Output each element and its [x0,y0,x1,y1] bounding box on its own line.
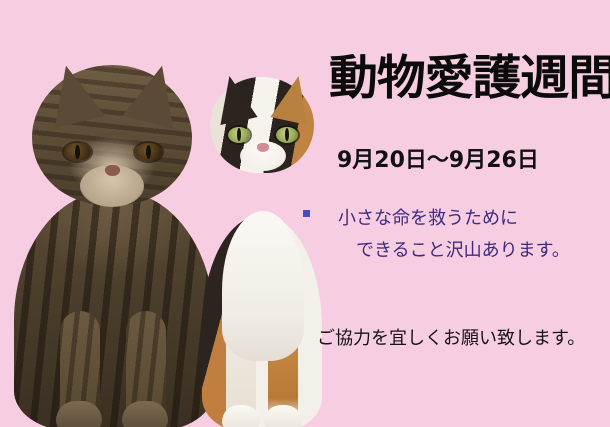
tabby-cat-right-eye [135,143,162,161]
calico-cat-left-ear [211,72,258,125]
calico-cat-right-ear [270,72,317,125]
message-line-1: 小さな命を救うために [338,208,518,229]
date-range-label: 9月20日〜9月26日 [337,142,539,174]
page-title: 動物愛護週間 [329,55,595,102]
calico-cat-nose [257,143,269,152]
calico-cat-right-paw [264,405,302,427]
calico-cat-right-eye [276,127,298,143]
tabby-cat-right-paw [122,401,168,427]
tabby-cat-left-ear [41,59,105,128]
tabby-cat-chest [58,189,170,339]
calico-cat-chest [222,211,304,361]
closing-message: ご協力を宜しくお願い致します。 [317,326,585,351]
calico-cat-photo [196,59,326,427]
calico-cat-left-paw [222,405,260,427]
tabby-cat-photo [14,41,214,427]
calico-cat-head [210,77,314,173]
tabby-cat-left-eye [64,143,91,161]
blue-pixel-artifact [303,210,310,217]
calico-cat-left-eye [228,127,250,143]
message-line-2: できること沢山あります。 [338,235,570,267]
tabby-cat-right-ear [123,59,187,128]
tabby-cat-left-paw [56,401,102,427]
tabby-cat-head [32,65,192,205]
poster-canvas: 動物愛護週間 9月20日〜9月26日 小さな命を救うために できること沢山ありま… [0,0,610,427]
tabby-cat-nose [105,165,120,176]
message-block: 小さな命を救うために できること沢山あります。 [338,203,570,266]
cat-photo-area [0,0,330,427]
